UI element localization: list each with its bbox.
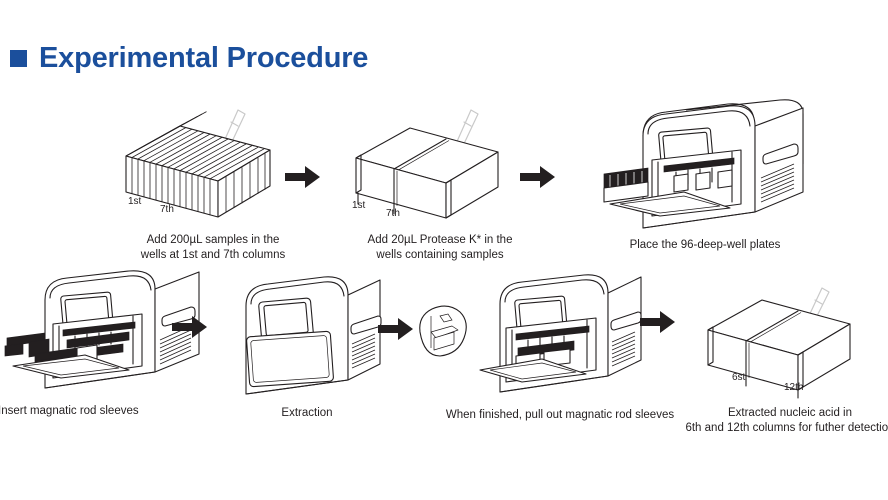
- step-5: Extraction: [232, 272, 382, 400]
- 96-well-plate-open-graphic: 1st 7th: [118, 108, 308, 223]
- column-label-7th: 7th: [386, 208, 400, 219]
- arrow-right-icon: [172, 315, 208, 339]
- column-label-1st: 1st: [128, 196, 141, 207]
- step-7-caption: Extracted nucleic acid in 6th and 12th c…: [645, 406, 888, 435]
- step-6: When finished, pull out magnatic rod sle…: [478, 272, 643, 400]
- step-1: 1st 7th Add 200µL samples in the wells a…: [118, 108, 308, 223]
- page-title: Experimental Procedure: [10, 44, 368, 73]
- arrow-3: [172, 315, 208, 339]
- column-label-12th: 12th: [784, 382, 803, 393]
- arrow-right-icon: [285, 165, 321, 189]
- square-bullet-icon: [10, 50, 27, 67]
- extractor-machine-closed-graphic: [232, 272, 382, 400]
- extractor-machine-remove-sleeves-graphic: [478, 272, 643, 400]
- arrow-5: [640, 310, 676, 334]
- column-label-6st: 6st: [732, 372, 745, 383]
- step-1-caption: Add 200µL samples in the wells at 1st an…: [93, 233, 333, 262]
- extractor-machine-loading-graphic: [598, 100, 813, 240]
- arrow-2: [520, 165, 556, 189]
- arrow-right-icon: [520, 165, 556, 189]
- step-2-caption: Add 20µL Protease K* in the wells contai…: [326, 233, 554, 262]
- step-3-caption: Place the 96-deep-well plates: [586, 238, 824, 253]
- column-label-1st: 1st: [352, 200, 365, 211]
- 96-well-plate-covered-graphic: 1st 7th: [348, 108, 528, 223]
- arrow-right-icon: [640, 310, 676, 334]
- step-2: 1st 7th Add 20µL Protease K* in the well…: [348, 108, 528, 223]
- step-4: Insert magnatic rod sleeves: [5, 268, 200, 398]
- 96-well-plate-result-graphic: 6st 12th: [700, 288, 880, 400]
- page-title-text: Experimental Procedure: [39, 44, 368, 73]
- arrow-right-icon: [378, 317, 414, 341]
- magnified-rod-sleeve-icon: [414, 302, 472, 364]
- arrow-1: [285, 165, 321, 189]
- step-5-caption: Extraction: [232, 406, 382, 421]
- rod-sleeve-detail-callout: [414, 302, 472, 364]
- column-label-7th: 7th: [160, 204, 174, 215]
- step-7: 6st 12th Extracted nucleic acid in 6th a…: [700, 288, 880, 400]
- step-4-caption: Insert magnatic rod sleeves: [0, 404, 193, 419]
- arrow-4: [378, 317, 414, 341]
- step-3: Place the 96-deep-well plates: [598, 100, 813, 240]
- extractor-machine-insert-sleeves-graphic: [5, 268, 200, 398]
